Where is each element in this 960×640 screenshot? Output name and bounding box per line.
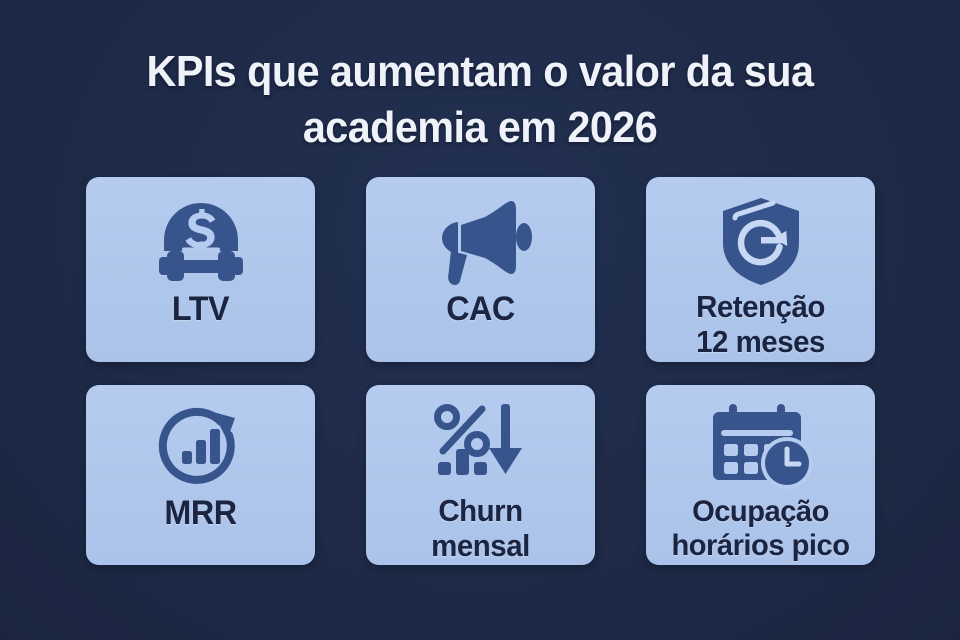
kpi-card-label-ltv: LTV [92, 291, 310, 328]
kpi-card-retencao[interactable]: Retenção 12 meses [646, 177, 875, 362]
kpi-card-label-churn: Churn mensal [372, 493, 590, 563]
megaphone-icon [427, 193, 535, 289]
kpi-card-label-retencao: Retenção 12 meses [652, 289, 870, 359]
label-line: 12 meses [652, 324, 870, 359]
label-line: Ocupação [649, 495, 871, 529]
percent-bars-down-arrow-icon [429, 399, 533, 493]
calendar-clock-icon [707, 399, 815, 493]
kpi-card-mrr[interactable]: MRR [86, 385, 315, 565]
dollar-dome-dumbbell-icon [149, 193, 253, 289]
shield-refresh-icon [713, 193, 809, 289]
kpi-card-churn[interactable]: Churn mensal [366, 385, 595, 565]
kpi-card-label-mrr: MRR [92, 495, 310, 532]
label-line: LTV [92, 291, 310, 328]
page-title-line-1: KPIs que aumentam o valor da sua [29, 44, 931, 100]
label-line: Churn [372, 493, 590, 528]
infographic-canvas: KPIs que aumentam o valor da sua academi… [0, 0, 960, 640]
label-line: Retenção [652, 289, 870, 324]
kpi-card-label-ocupacao: Ocupação horários pico [649, 495, 871, 563]
label-line: MRR [92, 495, 310, 532]
label-line: CAC [372, 291, 590, 328]
label-line: horários pico [649, 529, 871, 563]
circular-arrow-bars-icon [151, 399, 251, 493]
kpi-card-label-cac: CAC [372, 291, 590, 328]
kpi-card-grid: LTV CAC [86, 177, 875, 565]
page-title: KPIs que aumentam o valor da sua academi… [0, 44, 960, 156]
label-line: mensal [372, 528, 590, 563]
kpi-card-cac[interactable]: CAC [366, 177, 595, 362]
page-title-line-2: academia em 2026 [29, 100, 931, 156]
kpi-card-ltv[interactable]: LTV [86, 177, 315, 362]
kpi-card-ocupacao[interactable]: Ocupação horários pico [646, 385, 875, 565]
